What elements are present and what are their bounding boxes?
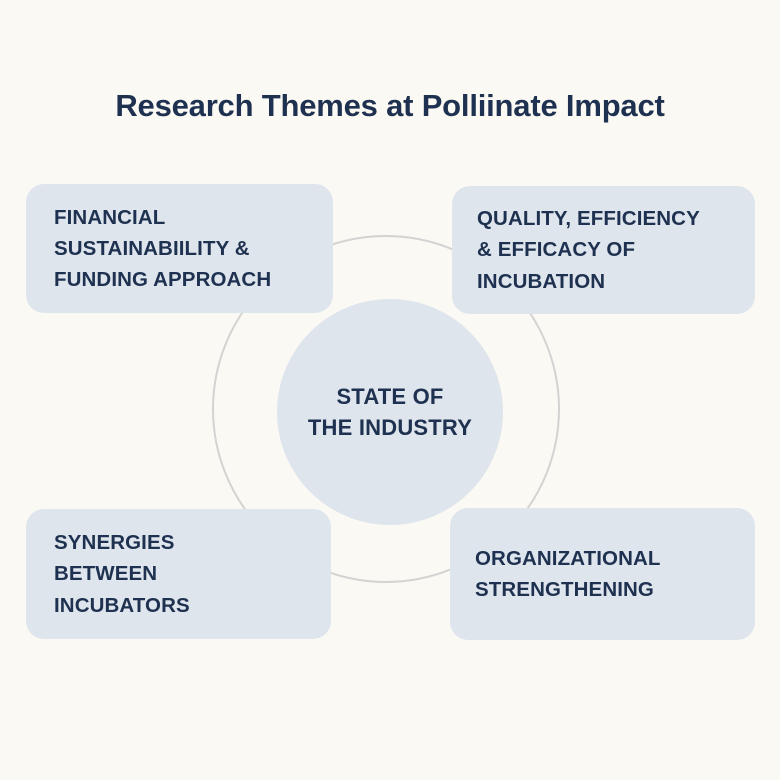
center-hub-node[interactable]: STATE OF THE INDUSTRY [277,299,503,525]
theme-node-label: QUALITY, EFFICIENCY & EFFICACY OF INCUBA… [477,203,700,296]
theme-node-label: ORGANIZATIONAL STRENGTHENING [475,543,661,605]
center-hub-label: STATE OF THE INDUSTRY [308,381,472,443]
theme-node-organizational-strengthening[interactable]: ORGANIZATIONAL STRENGTHENING [450,508,755,640]
theme-node-quality-efficiency[interactable]: QUALITY, EFFICIENCY & EFFICACY OF INCUBA… [452,186,755,314]
theme-node-financial-sustainability[interactable]: FINANCIAL SUSTAINABIILITY & FUNDING APPR… [26,184,333,313]
theme-node-label: SYNERGIES BETWEEN INCUBATORS [54,527,190,620]
diagram-canvas: Research Themes at Polliinate Impact STA… [0,0,780,780]
theme-node-synergies-between-incubators[interactable]: SYNERGIES BETWEEN INCUBATORS [26,509,331,639]
theme-node-label: FINANCIAL SUSTAINABIILITY & FUNDING APPR… [54,202,271,295]
page-title: Research Themes at Polliinate Impact [0,88,780,124]
